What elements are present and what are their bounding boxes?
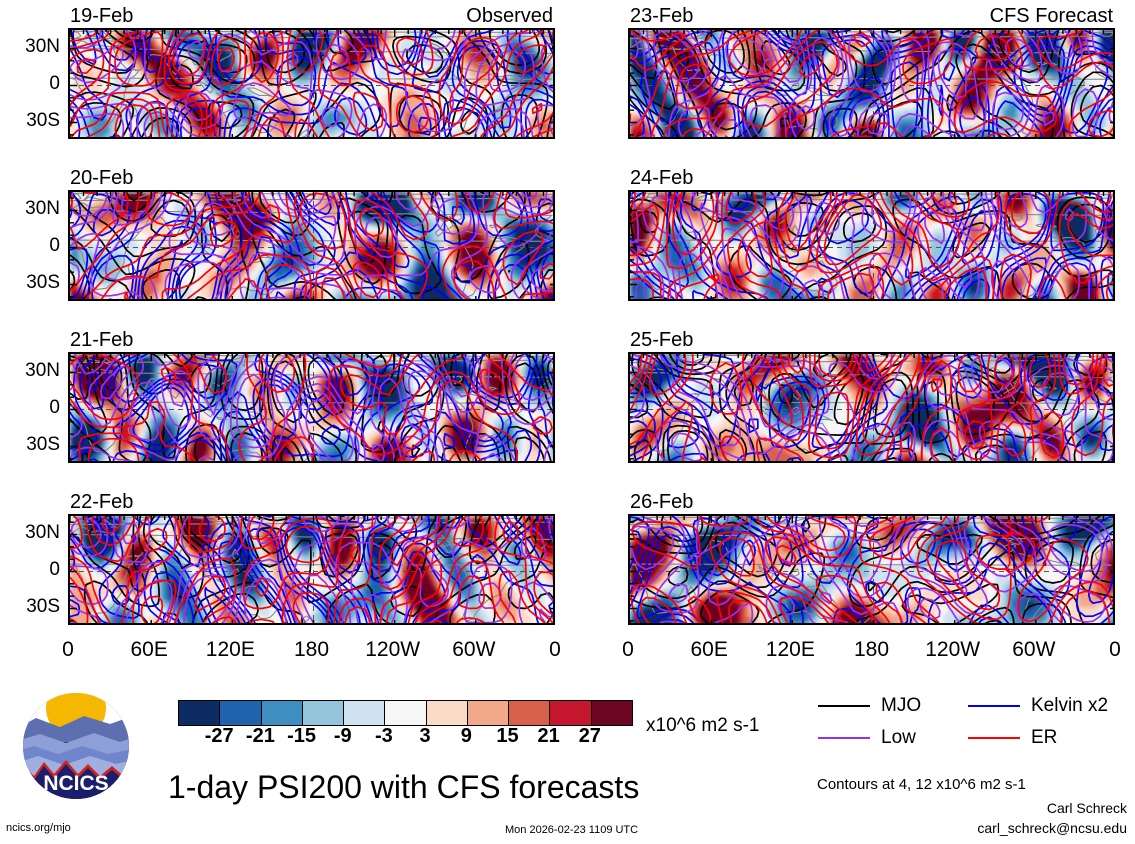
author-name: Carl Schreck	[1047, 800, 1127, 816]
map-plot-area	[68, 352, 555, 463]
colorbar-gradient	[178, 700, 633, 726]
latitude-label: 0	[2, 236, 60, 255]
colorbar-segment	[179, 701, 220, 725]
colorbar-tick: 27	[579, 726, 601, 746]
map-plot-area	[628, 28, 1115, 139]
longitude-label: 60W	[1012, 639, 1055, 660]
latitude-label: 0	[2, 560, 60, 579]
legend-label: ER	[1031, 728, 1057, 747]
longitude-label: 120E	[766, 639, 815, 660]
contour-note: Contours at 4, 12 x10^6 m2 s-1	[817, 776, 1026, 793]
legend-entry-er: ER	[968, 728, 1057, 747]
generation-timestamp: Mon 2026-02-23 1109 UTC	[505, 824, 638, 837]
longitude-label: 0	[62, 639, 74, 660]
colorbar-segment	[303, 701, 344, 725]
ncics-logo: NCICS	[14, 690, 138, 802]
panel-date-label: 20-Feb	[70, 168, 133, 188]
legend-label: Low	[881, 728, 916, 747]
longitude-label: 120E	[206, 639, 255, 660]
legend-label: Kelvin x2	[1031, 696, 1108, 715]
latitude-label: 30N	[2, 523, 60, 542]
panel-date-label: 23-Feb	[630, 6, 693, 26]
colorbar-tick: -15	[287, 726, 316, 746]
panel-date-label: 26-Feb	[630, 492, 693, 512]
map-plot-area	[68, 28, 555, 139]
colorbar-unit-label: x10^6 m2 s-1	[646, 716, 759, 735]
colorbar: -27-21-15-9-339152127	[178, 700, 633, 750]
colorbar-tick: 15	[496, 726, 518, 746]
longitude-label: 180	[854, 639, 889, 660]
map-plot-area	[628, 352, 1115, 463]
colorbar-segment	[385, 701, 426, 725]
longitude-label: 120W	[365, 639, 420, 660]
latitude-label: 0	[2, 398, 60, 417]
legend-entry-mjo: MJO	[818, 696, 921, 715]
longitude-label: 0	[622, 639, 634, 660]
latitude-label: 30S	[2, 597, 60, 616]
longitude-label: 60E	[130, 639, 167, 660]
legend-label: MJO	[881, 696, 921, 715]
longitude-label: 180	[294, 639, 329, 660]
map-plot-area	[628, 190, 1115, 301]
colorbar-tick: 9	[461, 726, 472, 746]
colorbar-tick: -3	[375, 726, 393, 746]
panel-date-label: 22-Feb	[70, 492, 133, 512]
logo-text: NCICS	[43, 772, 108, 795]
latitude-label: 30S	[2, 111, 60, 130]
colorbar-segment	[262, 701, 303, 725]
colorbar-segment	[550, 701, 591, 725]
colorbar-tick: -9	[334, 726, 352, 746]
colorbar-segment	[344, 701, 385, 725]
colorbar-tick: 3	[420, 726, 431, 746]
latitude-label: 30N	[2, 199, 60, 218]
panel-date-label: 25-Feb	[630, 330, 693, 350]
legend-line-swatch	[968, 737, 1020, 739]
colorbar-tick: -27	[205, 726, 234, 746]
latitude-label: 30N	[2, 361, 60, 380]
latitude-label: 30S	[2, 435, 60, 454]
legend-line-swatch	[818, 705, 870, 707]
map-plot-area	[628, 514, 1115, 625]
panel-date-label: 19-Feb	[70, 6, 133, 26]
figure-title: 1-day PSI200 with CFS forecasts	[168, 770, 639, 804]
legend-line-swatch	[818, 737, 870, 739]
colorbar-segment	[468, 701, 509, 725]
panel-source-label: CFS Forecast	[990, 6, 1113, 26]
colorbar-segment	[427, 701, 468, 725]
legend-entry-kelvin-x2: Kelvin x2	[968, 696, 1108, 715]
longitude-label: 120W	[925, 639, 980, 660]
panel-date-label: 24-Feb	[630, 168, 693, 188]
legend-line-swatch	[968, 705, 1020, 707]
legend-entry-low: Low	[818, 728, 916, 747]
map-plot-area	[68, 190, 555, 301]
panel-source-label: Observed	[466, 6, 553, 26]
latitude-label: 30S	[2, 273, 60, 292]
author-email: carl_schreck@ncsu.edu	[977, 820, 1127, 836]
colorbar-tick: -21	[246, 726, 275, 746]
longitude-label: 60W	[452, 639, 495, 660]
longitude-label: 0	[1109, 639, 1121, 660]
latitude-label: 0	[2, 74, 60, 93]
colorbar-segment	[592, 701, 632, 725]
latitude-label: 30N	[2, 37, 60, 56]
colorbar-tick: 21	[538, 726, 560, 746]
colorbar-segment	[509, 701, 550, 725]
colorbar-segment	[220, 701, 261, 725]
longitude-label: 0	[549, 639, 561, 660]
map-plot-area	[68, 514, 555, 625]
panel-date-label: 21-Feb	[70, 330, 133, 350]
site-url[interactable]: ncics.org/mjo	[6, 822, 71, 835]
longitude-label: 60E	[690, 639, 727, 660]
